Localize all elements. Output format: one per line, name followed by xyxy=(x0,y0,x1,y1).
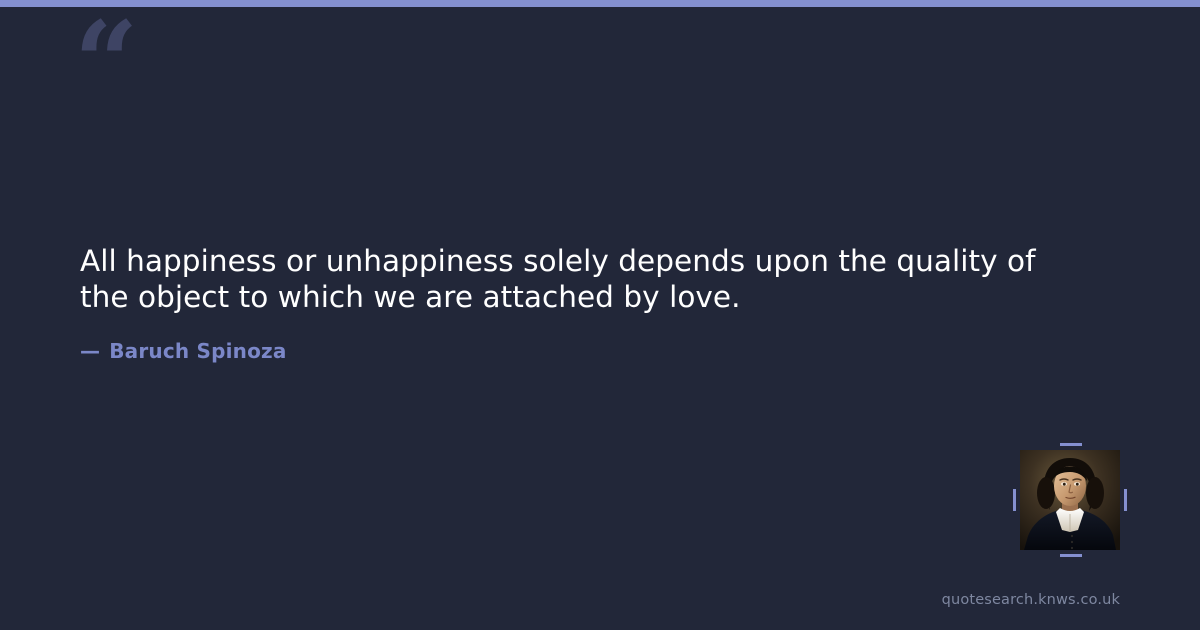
em-dash: — xyxy=(80,339,100,363)
author-portrait xyxy=(1020,450,1120,550)
portrait-container xyxy=(1012,442,1128,558)
author-name: Baruch Spinoza xyxy=(109,339,286,363)
portrait-tick-top xyxy=(1060,443,1082,446)
quote-block: All happiness or unhappiness solely depe… xyxy=(80,243,1040,315)
source-url: quotesearch.knws.co.uk xyxy=(942,592,1120,608)
quote-card: “ All happiness or unhappiness solely de… xyxy=(0,0,1200,630)
portrait-tick-right xyxy=(1124,489,1127,511)
portrait-tick-bottom xyxy=(1060,554,1082,557)
quotation-mark-icon: “ xyxy=(74,8,136,120)
portrait-tick-left xyxy=(1013,489,1016,511)
top-accent-bar xyxy=(0,0,1200,7)
quote-text: All happiness or unhappiness solely depe… xyxy=(80,243,1040,315)
attribution: — Baruch Spinoza xyxy=(80,339,287,363)
